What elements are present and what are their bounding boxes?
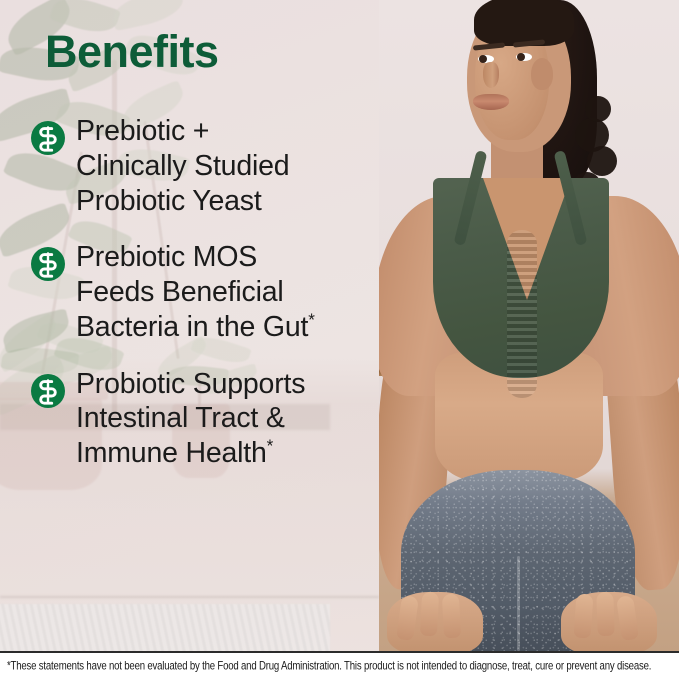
list-item: Prebiotic MOS Feeds Beneficial Bacteria … bbox=[30, 240, 375, 344]
gut-icon bbox=[30, 120, 66, 156]
page-title: Benefits bbox=[45, 29, 219, 74]
background-floor-line bbox=[0, 596, 379, 598]
gut-icon bbox=[30, 373, 66, 409]
left-content-panel: Benefits Prebiotic + Clinically Studied … bbox=[0, 0, 379, 651]
finger bbox=[596, 592, 615, 637]
finger bbox=[573, 593, 593, 638]
hair-curl bbox=[585, 96, 611, 122]
eye-right bbox=[516, 53, 532, 61]
benefit-text: Probiotic Supports Intestinal Tract & Im… bbox=[76, 367, 305, 471]
disclaimer-bar: *These statements have not been evaluate… bbox=[0, 651, 679, 679]
finger bbox=[442, 594, 461, 639]
list-item: Probiotic Supports Intestinal Tract & Im… bbox=[30, 367, 375, 471]
top-ruching bbox=[507, 230, 537, 398]
asterisk-marker: * bbox=[308, 310, 314, 329]
benefit-text: Prebiotic MOS Feeds Beneficial Bacteria … bbox=[76, 240, 315, 344]
disclaimer-text: *These statements have not been evaluate… bbox=[0, 659, 651, 672]
asterisk-marker: * bbox=[267, 437, 273, 456]
benefits-infographic: Benefits Prebiotic + Clinically Studied … bbox=[0, 0, 679, 679]
lips bbox=[473, 94, 509, 110]
benefits-list: Prebiotic + Clinically Studied Probiotic… bbox=[30, 114, 375, 493]
background-yoga-mat bbox=[0, 604, 330, 651]
nose bbox=[483, 62, 499, 88]
list-item: Prebiotic + Clinically Studied Probiotic… bbox=[30, 114, 375, 218]
model-photo bbox=[379, 0, 679, 651]
gut-icon bbox=[30, 246, 66, 282]
benefit-text: Prebiotic + Clinically Studied Probiotic… bbox=[76, 114, 289, 218]
ear bbox=[531, 58, 553, 90]
hair-curl bbox=[587, 146, 617, 176]
finger bbox=[420, 592, 439, 637]
benefit-text-body: Prebiotic MOS Feeds Beneficial Bacteria … bbox=[76, 241, 308, 343]
pants-seam bbox=[517, 556, 520, 651]
hair-crown bbox=[474, 0, 574, 46]
